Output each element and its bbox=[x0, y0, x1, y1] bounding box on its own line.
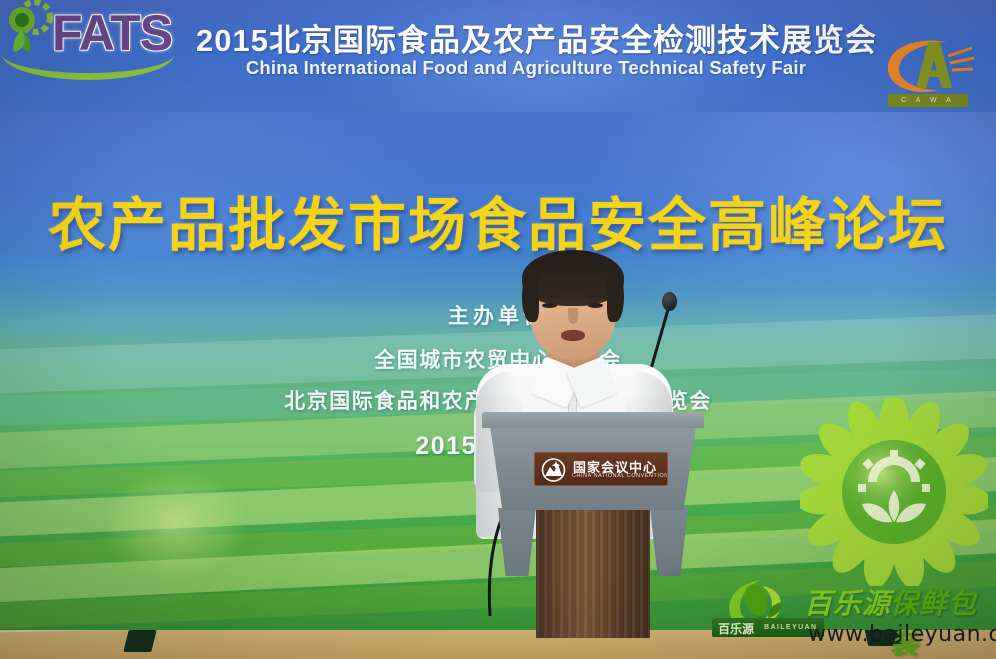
podium-plaque: 国家会议中心 CHINA NATIONAL CONVENTION CENTER bbox=[534, 452, 668, 486]
fats-swoosh bbox=[2, 54, 174, 80]
speaker-eyebrow bbox=[586, 294, 606, 298]
speaker-hair-side bbox=[522, 272, 539, 322]
speaker-eyebrow bbox=[540, 294, 560, 298]
watermark-brand-1: 百乐源 bbox=[804, 582, 891, 622]
ccnc-mountain-star-icon bbox=[541, 458, 566, 482]
podium-top-surface bbox=[482, 412, 704, 428]
photo-canvas: 农产品批发市场食品安全高峰论坛 主办单位 全国城市农贸中心联合会 北京国际食品和… bbox=[0, 0, 996, 659]
banner-header-bar: FATS 2015北京国际食品及农产品安全检测技术展览会 China Inter… bbox=[0, 0, 996, 112]
podium: 国家会议中心 CHINA NATIONAL CONVENTION CENTER bbox=[482, 412, 704, 630]
speaker-nose bbox=[568, 308, 578, 324]
speaker-eye bbox=[588, 303, 603, 308]
watermark-brand-2: 保鲜包装 bbox=[890, 582, 996, 659]
cawa-wordmark-text: C A W A bbox=[888, 94, 968, 107]
header-title-cn: 2015北京国际食品及农产品安全检测技术展览会 bbox=[196, 15, 856, 60]
cawa-wordmark: C A W A bbox=[888, 94, 968, 107]
watermark: 百乐源 BAILEYUAN 百乐源 保鲜包装 www.baileyuan.cn bbox=[700, 578, 996, 652]
sun-glow bbox=[100, 470, 250, 580]
cawa-wheat-emblem-icon bbox=[876, 36, 982, 103]
podium-leg-left bbox=[498, 508, 536, 576]
podium-plaque-en: CHINA NATIONAL CONVENTION CENTER bbox=[572, 473, 668, 479]
watermark-url: www.baileyuan.cn bbox=[808, 622, 996, 647]
podium-leg-right bbox=[650, 508, 688, 576]
speaker-hair-side bbox=[607, 272, 624, 322]
podium-base bbox=[536, 508, 650, 638]
floor-object bbox=[123, 630, 156, 652]
cawa-logo: C A W A bbox=[876, 36, 982, 112]
baileyuan-badge-cn: 百乐源 bbox=[718, 620, 754, 637]
header-title-en: China International Food and Agriculture… bbox=[196, 57, 856, 79]
speaker-mouth bbox=[561, 330, 585, 341]
podium-front-panel: 国家会议中心 CHINA NATIONAL CONVENTION CENTER bbox=[490, 426, 696, 510]
microphone-icon bbox=[662, 292, 677, 311]
speaker-eye bbox=[542, 303, 557, 308]
fats-logo: FATS bbox=[0, 0, 176, 94]
